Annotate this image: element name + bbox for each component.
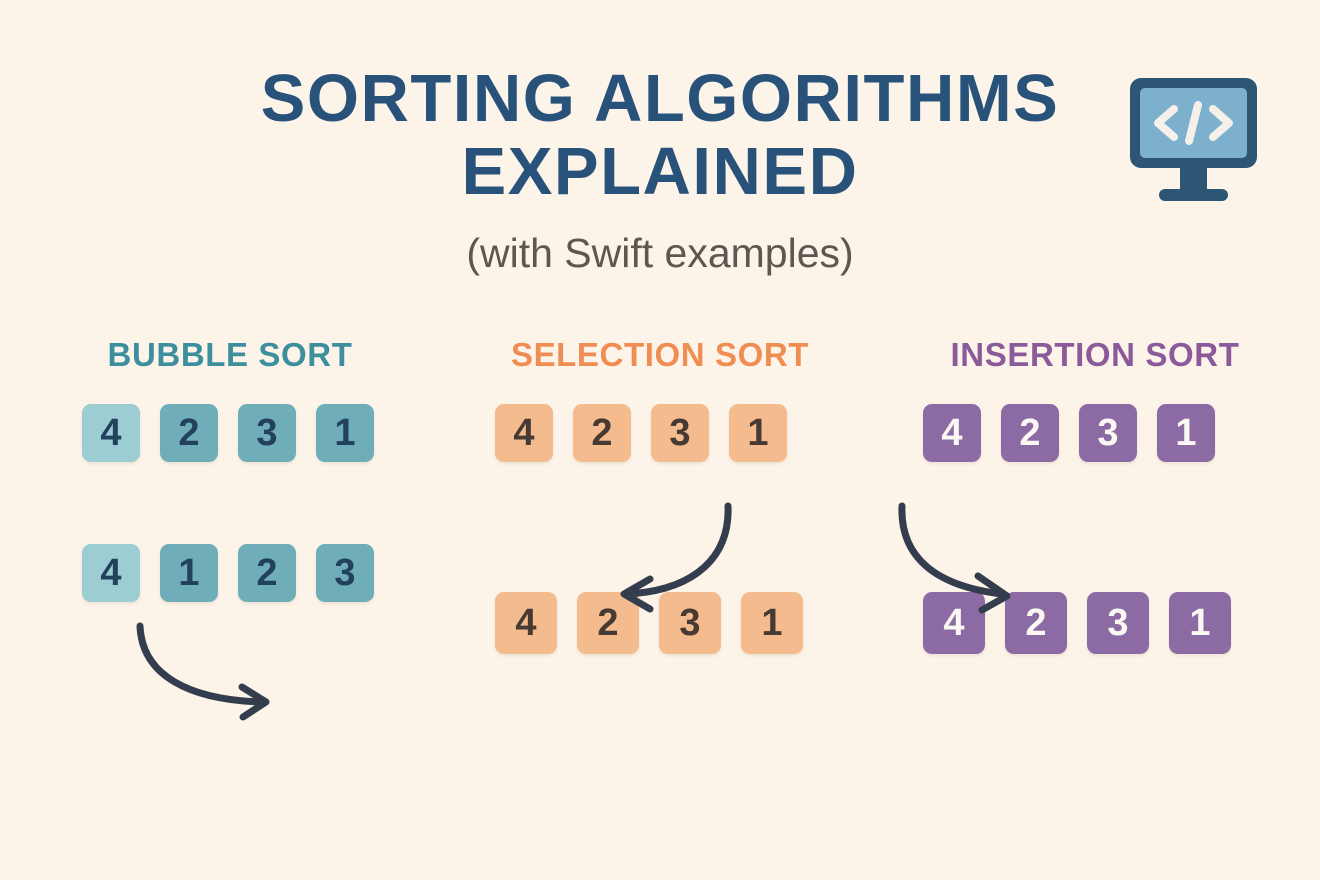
tile[interactable]: 3: [651, 404, 709, 462]
tile[interactable]: 2: [238, 544, 296, 602]
page-title-line-2: EXPLAINED: [0, 135, 1320, 208]
column-heading-insertion-sort: INSERTION SORT: [875, 336, 1315, 374]
tile[interactable]: 1: [160, 544, 218, 602]
tile[interactable]: 4: [495, 404, 553, 462]
tile[interactable]: 4: [82, 404, 140, 462]
page-subtitle: (with Swift examples): [0, 230, 1320, 277]
column-heading-selection-sort: SELECTION SORT: [440, 336, 880, 374]
tile[interactable]: 4: [923, 404, 981, 462]
title-block: SORTING ALGORITHMS EXPLAINED (with Swift…: [0, 62, 1320, 277]
selection-sort-select-arrow: [610, 498, 760, 608]
tile[interactable]: 4: [495, 592, 557, 654]
tile[interactable]: 4: [82, 544, 140, 602]
algorithm-column-insertion-sort: INSERTION SORT 4 2 3 1 4 2 3 1: [875, 336, 1315, 756]
tile[interactable]: 2: [1001, 404, 1059, 462]
algorithm-column-bubble-sort: BUBBLE SORT 4 2 3 1 4 1 2 3: [10, 336, 450, 756]
tile[interactable]: 2: [573, 404, 631, 462]
page-title-line-1: SORTING ALGORITHMS: [0, 62, 1320, 135]
header: SORTING ALGORITHMS EXPLAINED (with Swift…: [0, 0, 1320, 310]
bubble-sort-swap-arrow: [130, 614, 310, 714]
tile-row-selection-0: 4 2 3 1: [495, 404, 787, 462]
tile[interactable]: 3: [1079, 404, 1137, 462]
insertion-sort-insert-arrow: [890, 498, 1050, 608]
tile-row-insertion-0: 4 2 3 1: [923, 404, 1215, 462]
tile[interactable]: 1: [729, 404, 787, 462]
tile-row-bubble-1: 4 1 2 3: [82, 544, 374, 602]
tile[interactable]: 3: [316, 544, 374, 602]
tile[interactable]: 1: [1157, 404, 1215, 462]
tile[interactable]: 2: [160, 404, 218, 462]
tile[interactable]: 3: [238, 404, 296, 462]
algorithm-columns: BUBBLE SORT 4 2 3 1 4 1 2 3 SELECTION SO…: [0, 336, 1320, 756]
tile-row-bubble-0: 4 2 3 1: [82, 404, 374, 462]
algorithm-column-selection-sort: SELECTION SORT 4 2 3 1 4 2 3 1: [440, 336, 880, 756]
tile[interactable]: 1: [1169, 592, 1231, 654]
column-heading-bubble-sort: BUBBLE SORT: [10, 336, 450, 374]
code-monitor-icon: [1126, 70, 1261, 205]
tile[interactable]: 3: [1087, 592, 1149, 654]
tile[interactable]: 1: [316, 404, 374, 462]
